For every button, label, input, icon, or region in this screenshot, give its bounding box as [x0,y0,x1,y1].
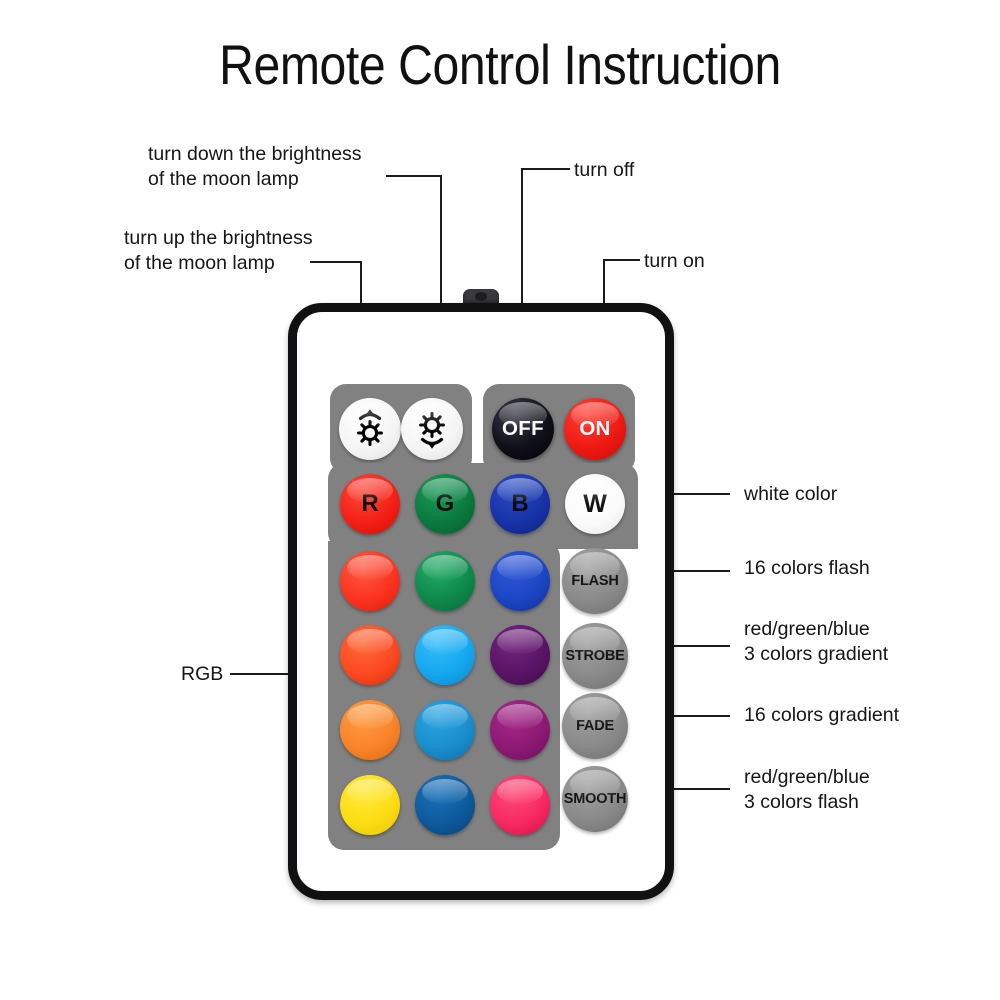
instruction-diagram: Remote Control Instruction turn down the… [0,0,1000,1000]
color-button-green-label: G [436,490,455,518]
color-button-red-2[interactable] [340,551,400,611]
off-button[interactable]: OFF [492,398,554,460]
leader-line-brightness-up [310,261,362,263]
leader-line-turn-on [604,259,640,261]
sun-up-icon [347,406,393,452]
flash-button[interactable]: FLASH [562,548,628,614]
color-button-blue[interactable]: B [490,474,550,534]
leader-line-brightness-down [386,175,442,177]
color-button-blue-2[interactable] [490,551,550,611]
leader-line-turn-off [522,168,570,170]
power-button-panel: OFF ON [483,384,635,474]
color-button-dark-purple[interactable] [490,625,550,685]
white-button-label: W [583,490,607,519]
callout-fade: 16 colors gradient [744,703,899,728]
flash-button-label: FLASH [571,573,618,589]
color-button-magenta-purple[interactable] [490,700,550,760]
white-button[interactable]: W [565,474,625,534]
remote-control-body: OFF ON R G B W [288,303,674,900]
color-button-cyan-blue[interactable] [415,700,475,760]
off-button-label: OFF [502,417,544,441]
brightness-down-button[interactable] [339,398,401,460]
color-button-red[interactable]: R [340,474,400,534]
smooth-button-label: SMOOTH [564,791,626,807]
callout-turn-up-brightness: turn up the brightness of the moon lamp [124,226,313,276]
color-button-blue-label: B [511,490,528,518]
strobe-button-label: STROBE [565,648,624,664]
color-button-orange-red[interactable] [340,625,400,685]
callout-white-color: white color [744,482,837,507]
callout-turn-off: turn off [574,158,634,183]
callout-strobe: red/green/blue 3 colors gradient [744,617,888,667]
callout-turn-down-brightness: turn down the brightness of the moon lam… [148,142,362,192]
on-button-label: ON [579,417,610,441]
color-button-pink[interactable] [490,775,550,835]
color-button-orange[interactable] [340,700,400,760]
color-button-red-label: R [361,490,378,518]
callout-rgb: RGB [181,662,223,687]
brightness-up-button[interactable] [401,398,463,460]
fade-button-label: FADE [576,718,614,734]
color-button-green[interactable]: G [415,474,475,534]
callout-smooth: red/green/blue 3 colors flash [744,765,870,815]
callout-flash: 16 colors flash [744,556,870,581]
brightness-button-panel [330,384,472,474]
sun-down-icon [409,406,455,452]
color-button-deep-blue[interactable] [415,775,475,835]
callout-turn-on: turn on [644,249,705,274]
color-button-yellow[interactable] [340,775,400,835]
smooth-button[interactable]: SMOOTH [562,766,628,832]
color-button-green-2[interactable] [415,551,475,611]
on-button[interactable]: ON [564,398,626,460]
strobe-button[interactable]: STROBE [562,623,628,689]
fade-button[interactable]: FADE [562,693,628,759]
color-button-sky-blue[interactable] [415,625,475,685]
page-title: Remote Control Instruction [70,36,930,95]
